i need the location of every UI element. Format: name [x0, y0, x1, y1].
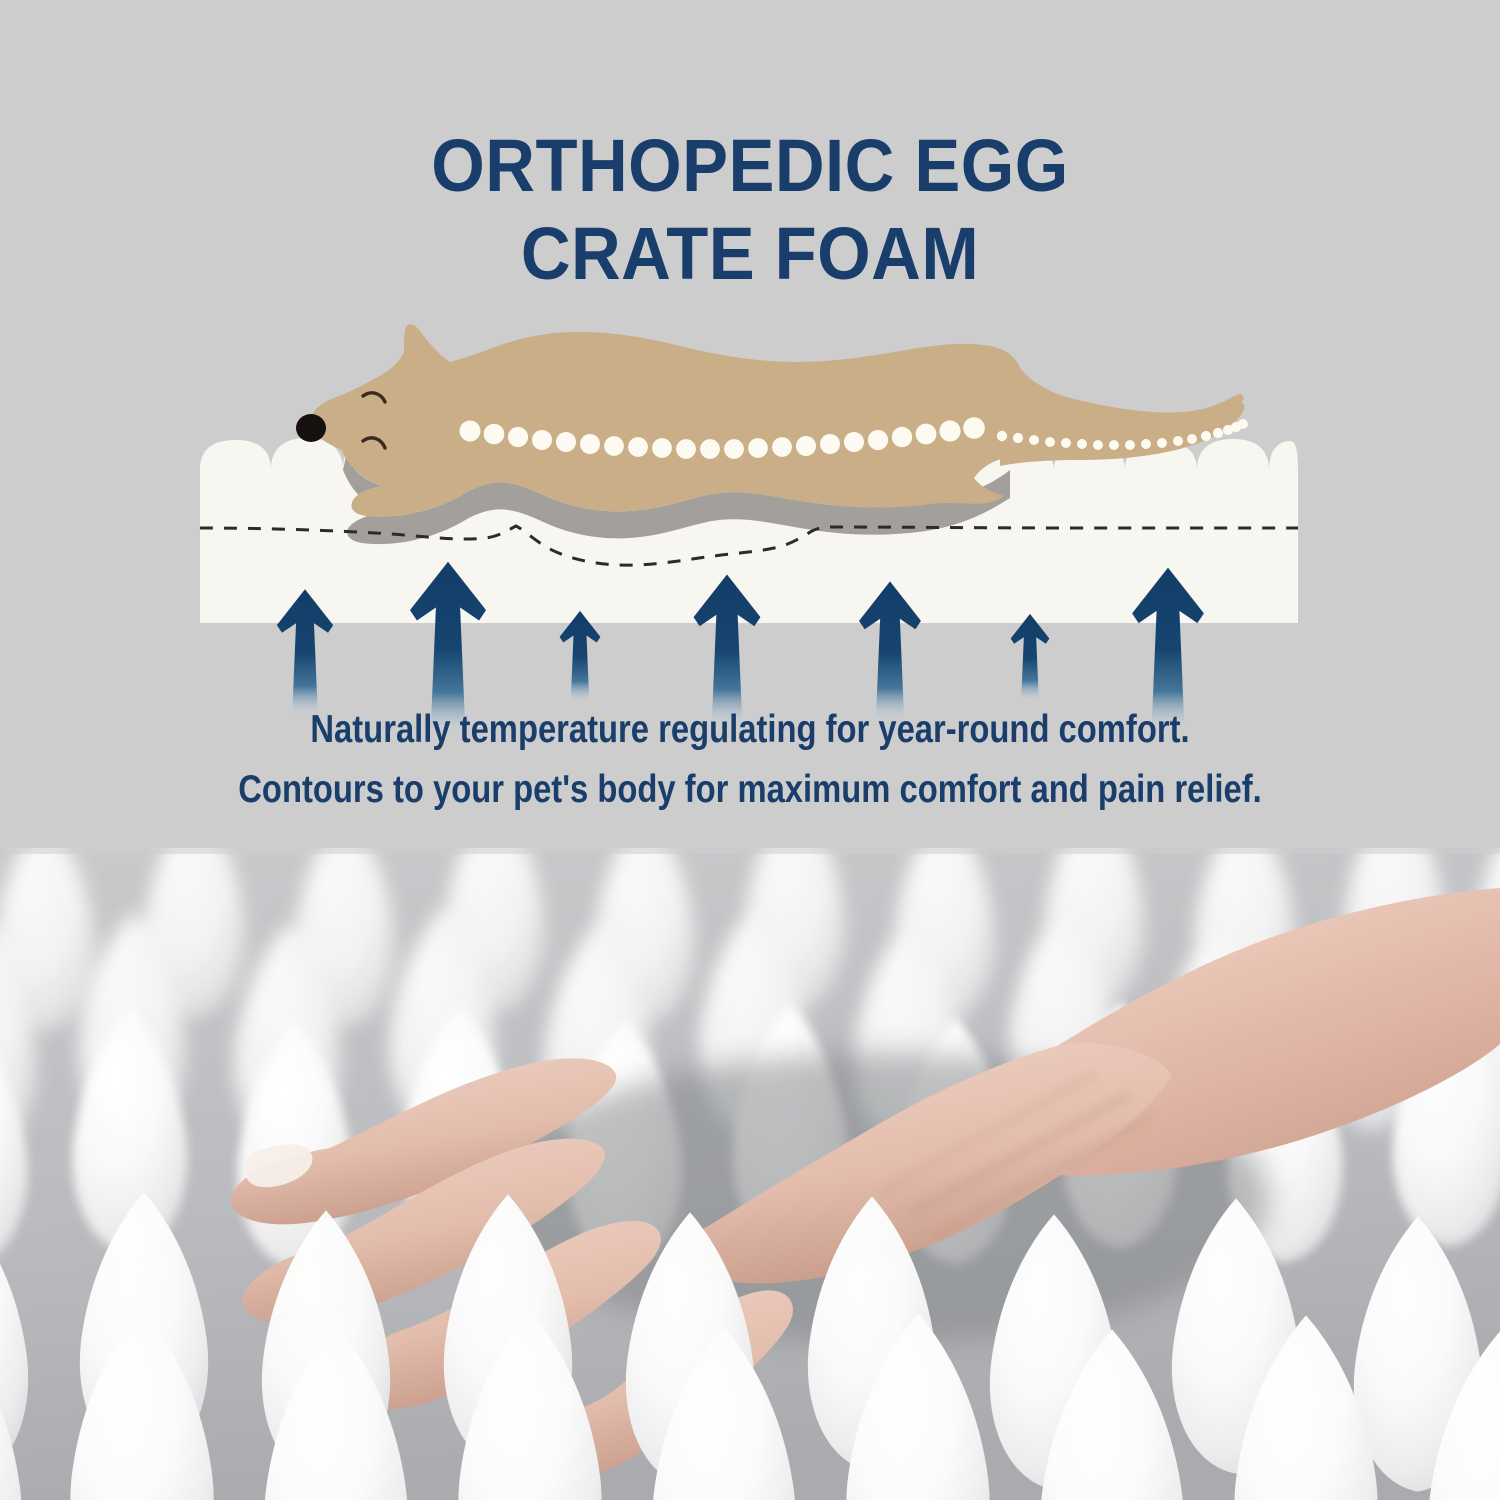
feature-caption: Naturally temperature regulating for yea…: [120, 700, 1380, 820]
feature-caption-line-2: Contours to your pet's body for maximum …: [120, 760, 1380, 820]
foam-photo: [0, 848, 1500, 1500]
pressure-arrow: [1011, 614, 1050, 699]
dog-nose-icon: [296, 414, 326, 442]
feature-caption-line-1: Naturally temperature regulating for yea…: [120, 700, 1380, 760]
info-panel: ORTHOPEDIC EGG CRATE FOAM: [0, 0, 1500, 848]
pressure-arrow: [560, 611, 601, 701]
product-feature-graphic: ORTHOPEDIC EGG CRATE FOAM: [0, 0, 1500, 1500]
foam-photo-illustration: [0, 848, 1500, 1500]
